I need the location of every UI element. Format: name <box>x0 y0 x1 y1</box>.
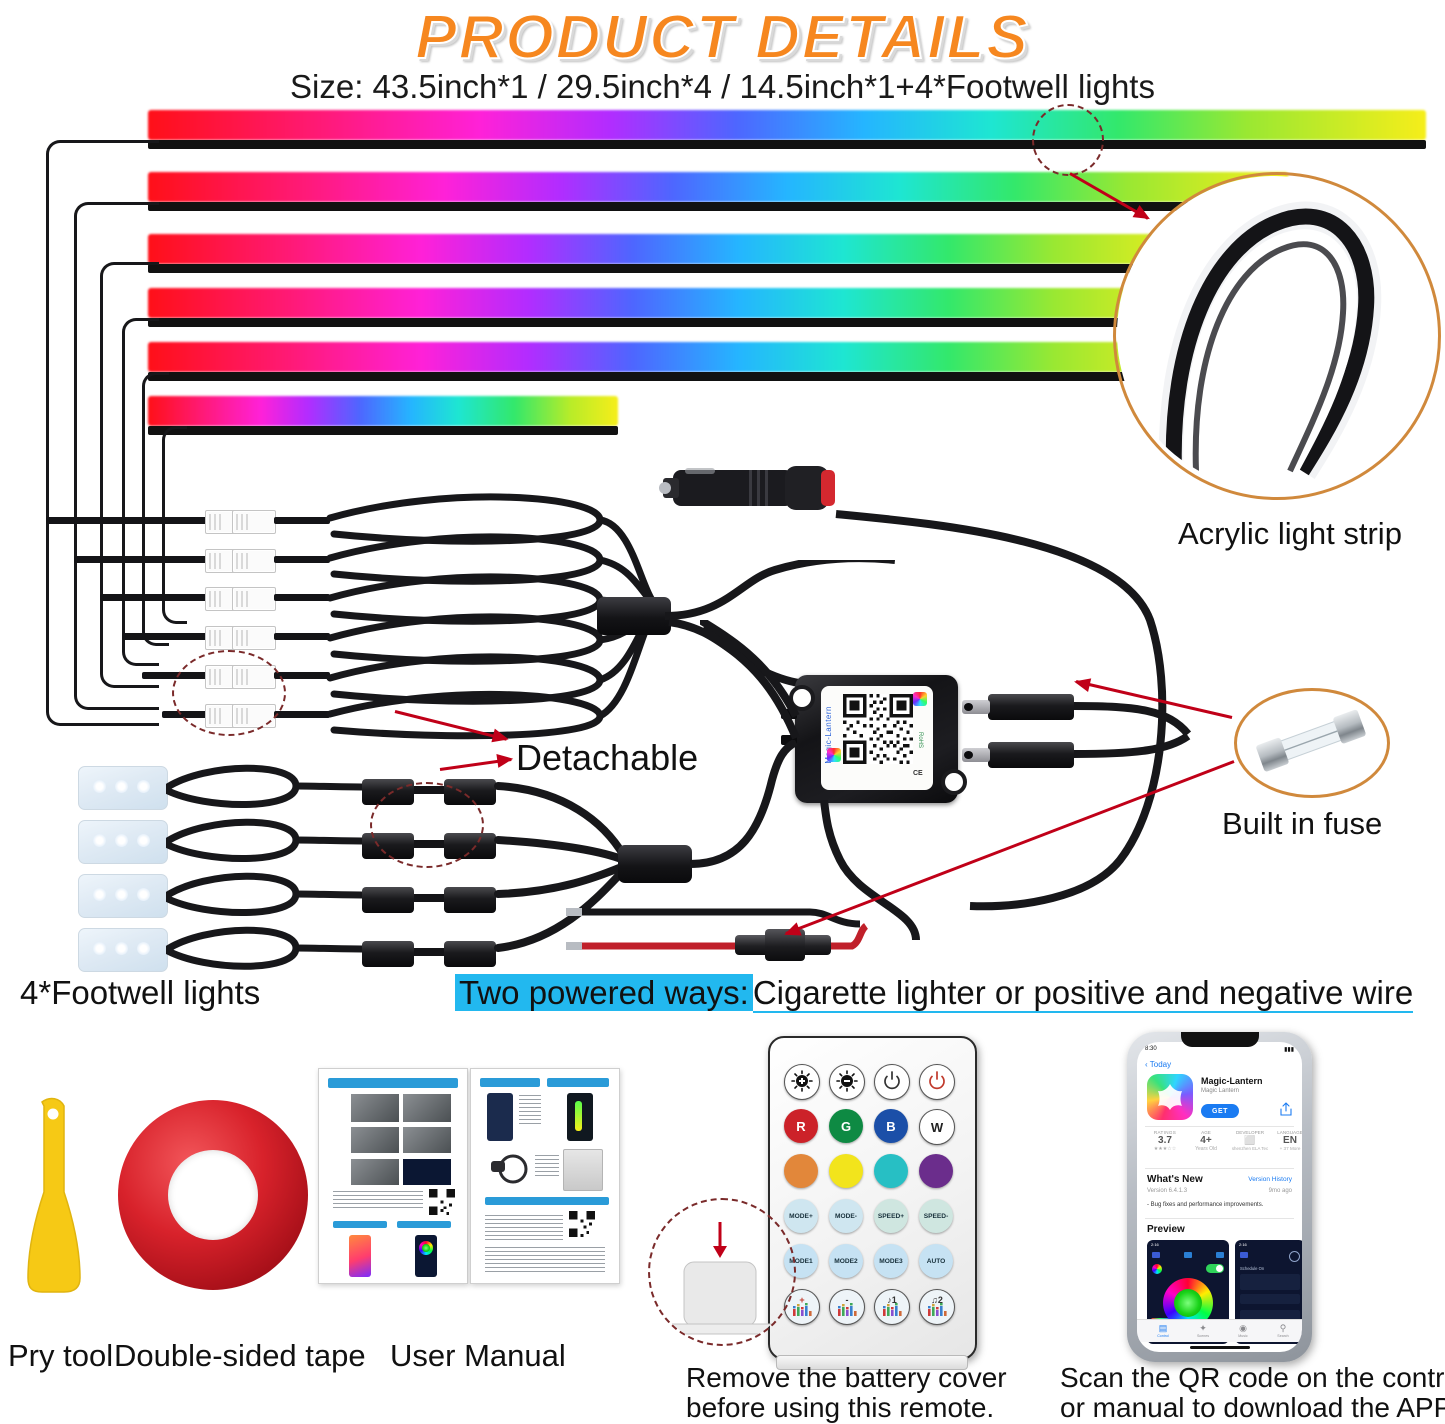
app-title: Magic-Lantern <box>1201 1076 1263 1086</box>
stat-sub: shenzhen ELA Tec <box>1227 1146 1273 1151</box>
remote-button-label: SPEED- <box>924 1213 949 1220</box>
share-icon[interactable] <box>1280 1102 1292 1121</box>
detachable-marker-strip <box>172 650 286 736</box>
tape-label: Double-sided tape <box>114 1338 366 1374</box>
remote-button-r[interactable]: R <box>784 1109 818 1143</box>
power-on-icon <box>926 1070 948 1094</box>
strip-43-5inch <box>148 110 1426 140</box>
powered-ways-caption: Two powered ways:Cigarette lighter or po… <box>455 974 1413 1012</box>
footwell-lamp <box>78 820 168 864</box>
stat-value: 4+ <box>1187 1135 1225 1146</box>
stat-sub: + 37 More <box>1275 1146 1302 1151</box>
remote-button-label: G <box>841 1119 851 1134</box>
brightness-up-icon[interactable] <box>784 1064 820 1100</box>
battery-cover-zoom-circle <box>648 1198 796 1346</box>
footwell-lamp <box>78 874 168 918</box>
strip-connector <box>232 549 276 573</box>
tab-music[interactable]: ◉ Music <box>1229 1323 1257 1338</box>
fuse-label: Built in fuse <box>1222 806 1382 842</box>
dc-output-plug-top <box>988 694 1074 720</box>
phone-mockup: 8:30 ▮▮▮ ‹ Today Magic-Lantern Magic Lan… <box>1127 1032 1312 1362</box>
stat-value: EN <box>1275 1135 1302 1146</box>
acrylic-label: Acrylic light strip <box>1178 516 1402 552</box>
tab-control[interactable]: ▤ Control <box>1149 1323 1177 1338</box>
version-history-link[interactable]: Version History <box>1248 1176 1292 1183</box>
app-tab-bar[interactable]: ▤ Control ✦ Scenes ◉ Music ⚲ Search <box>1137 1319 1302 1342</box>
strip-29-5inch-2 <box>148 234 1202 264</box>
acrylic-zoom-source-marker <box>1032 104 1104 176</box>
get-button[interactable]: GET <box>1201 1104 1239 1118</box>
controller-qr-code <box>843 694 913 764</box>
phone-caption-line2: or manual to download the APP. <box>1060 1392 1445 1424</box>
brightness-down-icon[interactable] <box>829 1064 865 1100</box>
size-subtitle: Size: 43.5inch*1 / 29.5inch*4 / 14.5inch… <box>0 68 1445 106</box>
version-time: 9mo ago <box>1269 1188 1292 1194</box>
preview-title: Preview <box>1147 1224 1185 1235</box>
phone-notch <box>1181 1032 1259 1047</box>
remote-button-on[interactable] <box>919 1064 955 1100</box>
remote-button[interactable] <box>784 1154 818 1188</box>
remote-button-w[interactable]: W <box>919 1109 955 1145</box>
whats-new-title: What's New <box>1147 1174 1203 1185</box>
strip-connector <box>232 510 276 534</box>
music-1-icon[interactable]: ♪1 <box>874 1289 910 1325</box>
ce-mark: CE <box>913 770 923 777</box>
page-title: PRODUCT DETAILS <box>0 2 1445 73</box>
powered-ways-detail: Cigarette lighter or positive and negati… <box>753 974 1413 1013</box>
remote-button-off[interactable] <box>874 1064 910 1100</box>
remote-caption-line2: before using this remote. <box>686 1392 994 1424</box>
phone-caption-line1: Scan the QR code on the controller <box>1060 1362 1445 1394</box>
strip-connector <box>232 587 276 611</box>
remote-button-label: B <box>886 1119 895 1134</box>
app-icon <box>1147 1074 1193 1120</box>
remote-button-b[interactable]: B <box>874 1109 908 1143</box>
controller-input-leads <box>700 620 810 750</box>
rohs-mark: RoHS <box>917 732 923 748</box>
remote-button-mode[interactable]: MODE+ <box>784 1199 818 1233</box>
footwell-lamp <box>78 766 168 810</box>
remote-button[interactable] <box>919 1154 953 1188</box>
svg-text:+: + <box>799 1295 804 1305</box>
back-to-today[interactable]: ‹ Today <box>1145 1060 1171 1069</box>
strip-14-5inch <box>148 396 618 426</box>
pry-tool-label: Pry tool <box>8 1338 113 1374</box>
app-store-screen[interactable]: 8:30 ▮▮▮ ‹ Today Magic-Lantern Magic Lan… <box>1137 1042 1302 1352</box>
remote-caption-line1: Remove the battery cover <box>686 1362 1007 1394</box>
remote-button[interactable] <box>874 1154 908 1188</box>
dc-output-plug-bottom <box>988 742 1074 768</box>
remote-button-label: W <box>931 1120 943 1135</box>
svg-text:-: - <box>846 1295 849 1305</box>
acrylic-strip-zoom-circle <box>1113 172 1441 500</box>
app-subtitle: Magic Lantern <box>1201 1088 1239 1094</box>
strip-29-5inch-4 <box>148 342 1202 372</box>
svg-text:♫2: ♫2 <box>931 1295 943 1305</box>
footwell-lamp <box>78 928 168 972</box>
remote-button-mode[interactable]: MODE- <box>829 1199 863 1233</box>
version-line: Version 6.4.1.3 <box>1147 1188 1187 1194</box>
remote-button-g[interactable]: G <box>829 1109 863 1143</box>
remote-button-speed[interactable]: SPEED+ <box>874 1199 908 1233</box>
user-manual-page-left <box>318 1068 468 1284</box>
remote-button-speed[interactable]: SPEED- <box>919 1199 953 1233</box>
stat-sub: ★★★☆☆ <box>1145 1146 1185 1152</box>
user-manual-label: User Manual <box>390 1338 566 1374</box>
preview-caption: Schedule On <box>1240 1266 1264 1271</box>
stat-value: ⬜ <box>1227 1135 1273 1146</box>
strip-connector <box>232 626 276 650</box>
footwell-junction-to-controller <box>680 740 830 880</box>
user-manual-page-right <box>470 1068 620 1284</box>
stat-value: 3.7 <box>1145 1135 1185 1146</box>
detachable-label: Detachable <box>516 737 698 779</box>
remote-button-label: AUTO <box>927 1258 946 1265</box>
cigarette-lighter-plug <box>645 460 845 516</box>
preview-time: 2:16 <box>1151 1242 1159 1247</box>
fuse-zoom-circle <box>1234 688 1390 798</box>
remote-button-label: MODE- <box>835 1213 857 1220</box>
tab-scenes[interactable]: ✦ Scenes <box>1189 1323 1217 1338</box>
powered-ways-highlight: Two powered ways: <box>455 974 753 1011</box>
footwell-lights-label: 4*Footwell lights <box>20 974 260 1012</box>
brightness-down-icon <box>836 1070 858 1094</box>
music-2-icon[interactable]: ♫2 <box>919 1289 955 1325</box>
remote-button-label: MODE3 <box>879 1258 902 1265</box>
remote-button-label: R <box>796 1119 805 1134</box>
home-indicator <box>1190 1346 1250 1349</box>
double-sided-tape <box>118 1100 308 1290</box>
pry-tool <box>24 1096 84 1296</box>
app-stats-row: RATINGS 3.7 ★★★☆☆ AGE 4+ Years Old DEVEL… <box>1145 1130 1294 1164</box>
strip-29-5inch-1 <box>148 172 1288 202</box>
remote-button-label: SPEED+ <box>878 1213 904 1220</box>
tab-search[interactable]: ⚲ Search <box>1269 1323 1297 1338</box>
detachable-marker-footwell <box>370 782 484 868</box>
release-note: - Bug fixes and performance improvements… <box>1147 1202 1263 1208</box>
svg-text:♪1: ♪1 <box>887 1295 897 1305</box>
remote-control[interactable]: RGBWMODE+MODE-SPEED+SPEED-MODE1MODE2MODE… <box>768 1036 977 1360</box>
remote-button-mode3[interactable]: MODE3 <box>874 1244 908 1278</box>
back-label: Today <box>1150 1060 1171 1069</box>
stat-sub: Years Old <box>1187 1146 1225 1152</box>
remote-button-label: MODE2 <box>834 1258 857 1265</box>
bare-wire-to-controller <box>820 800 940 950</box>
music-minus-icon[interactable]: - <box>829 1289 865 1325</box>
strip-29-5inch-3 <box>148 288 1202 318</box>
remote-button-auto[interactable]: AUTO <box>919 1244 953 1278</box>
remote-button[interactable] <box>829 1154 863 1188</box>
remote-button-label: MODE+ <box>789 1213 813 1220</box>
remote-button-mode2[interactable]: MODE2 <box>829 1244 863 1278</box>
brightness-up-icon <box>791 1070 813 1094</box>
preview-time: 2:16 <box>1239 1242 1247 1247</box>
power-off-icon <box>881 1070 903 1094</box>
